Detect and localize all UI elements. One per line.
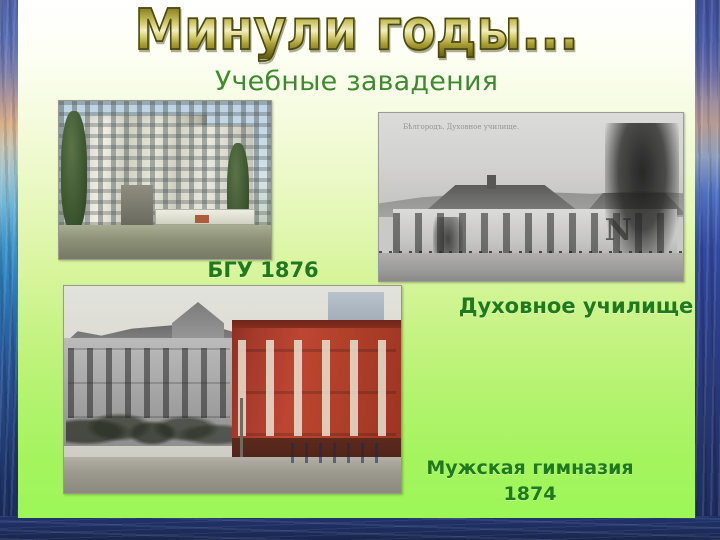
tree-icon xyxy=(605,123,679,263)
street-ground xyxy=(379,253,683,281)
postcard-caption-text: Бѣлгородъ. Духовное училище. xyxy=(403,121,553,134)
chimney xyxy=(487,175,496,189)
caption-gimnaziya: Мужская гимназия 1874 xyxy=(400,456,660,507)
pedestrians xyxy=(291,443,383,463)
slide-title: Минули годы... xyxy=(18,2,695,59)
window-grid xyxy=(238,340,396,436)
caption-bgu: БГУ 1876 xyxy=(168,258,358,282)
tree-icon xyxy=(61,111,87,231)
presentation-slide: Минули годы... Учебные завадения БГУ 187… xyxy=(0,0,720,540)
water-border-bottom xyxy=(0,516,720,540)
water-texture xyxy=(0,516,720,540)
caption-duhovnoe: Духовное училище xyxy=(448,294,695,318)
photo-duhovnoe-uchilishche: N Бѣлгородъ. Духовное училище. xyxy=(378,112,684,282)
slide-canvas: Минули годы... Учебные завадения БГУ 187… xyxy=(18,0,695,518)
slide-subtitle: Учебные завадения xyxy=(18,66,695,97)
street-ground xyxy=(59,225,271,259)
water-border-right xyxy=(695,0,720,540)
storefront-sign xyxy=(195,215,209,223)
photo-muzhskaya-gimnaziya xyxy=(63,285,402,494)
photo-bgu xyxy=(58,100,272,260)
caption-gimnaziya-line1: Мужская гимназия xyxy=(400,456,660,482)
caption-gimnaziya-line2: 1874 xyxy=(400,482,660,508)
water-texture xyxy=(0,0,18,540)
water-texture xyxy=(695,0,720,540)
water-border-left xyxy=(0,0,18,540)
